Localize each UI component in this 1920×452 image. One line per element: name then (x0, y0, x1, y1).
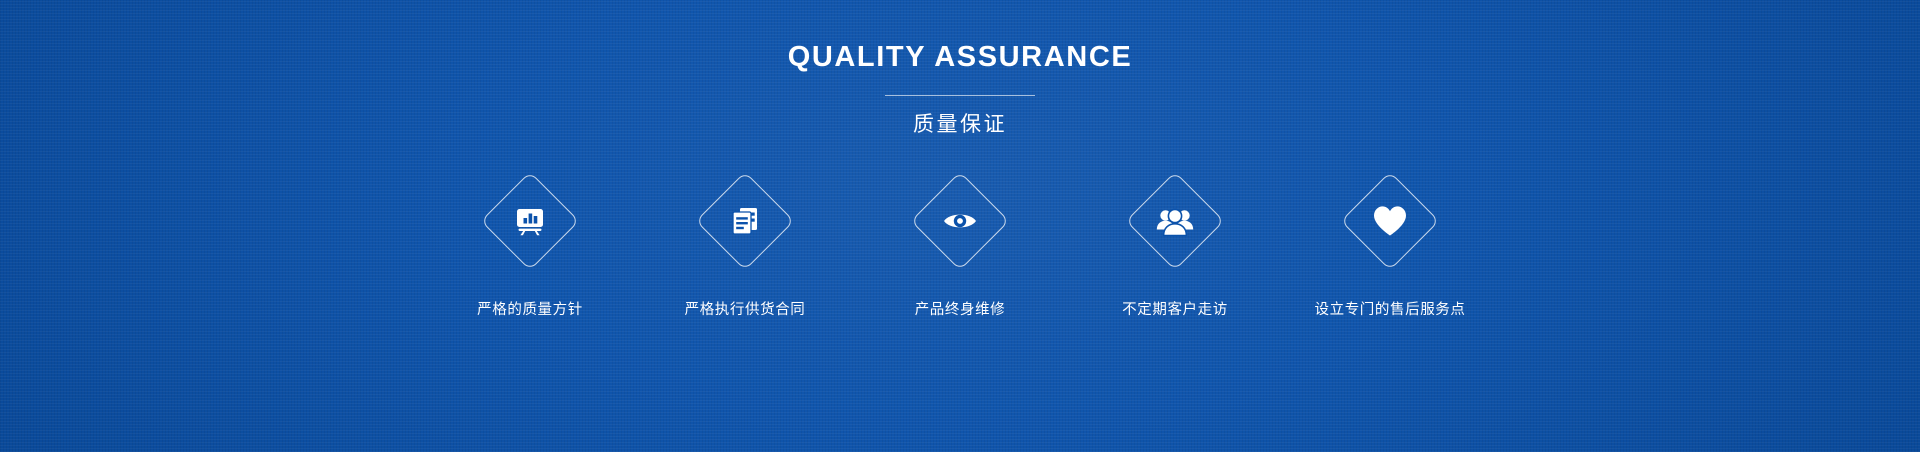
documents-icon (725, 201, 765, 241)
diamond-frame-1 (482, 173, 578, 269)
title-divider (885, 95, 1035, 96)
diamond-frame-5 (1342, 173, 1438, 269)
page-subtitle: 质量保证 (913, 114, 1007, 135)
feature-item-after-sales-points[interactable]: 设立专门的售后服务点 (1283, 173, 1498, 318)
feature-caption: 设立专门的售后服务点 (1315, 303, 1466, 318)
feature-item-customer-visits[interactable]: 不定期客户走访 (1068, 173, 1283, 318)
users-group-icon (1155, 201, 1195, 241)
diamond-frame-3 (912, 173, 1008, 269)
diamond-frame-4 (1127, 173, 1223, 269)
diamond-frame-2 (697, 173, 793, 269)
eye-icon (940, 201, 980, 241)
feature-caption: 不定期客户走访 (1122, 303, 1228, 318)
feature-list: 严格的质量方针 (423, 173, 1498, 318)
feature-caption: 严格执行供货合同 (685, 303, 806, 318)
feature-item-lifetime-service[interactable]: 产品终身维修 (853, 173, 1068, 318)
feature-item-supply-contract[interactable]: 严格执行供货合同 (638, 173, 853, 318)
banner-heading: QUALITY ASSURANCE 质量保证 (788, 43, 1133, 135)
page-title: QUALITY ASSURANCE (788, 43, 1133, 72)
feature-caption: 严格的质量方针 (477, 303, 583, 318)
heart-icon (1370, 201, 1410, 241)
quality-assurance-banner: QUALITY ASSURANCE 质量保证 (0, 0, 1920, 452)
chart-board-icon (510, 201, 550, 241)
feature-caption: 产品终身维修 (915, 303, 1006, 318)
feature-item-quality-policy[interactable]: 严格的质量方针 (423, 173, 638, 318)
